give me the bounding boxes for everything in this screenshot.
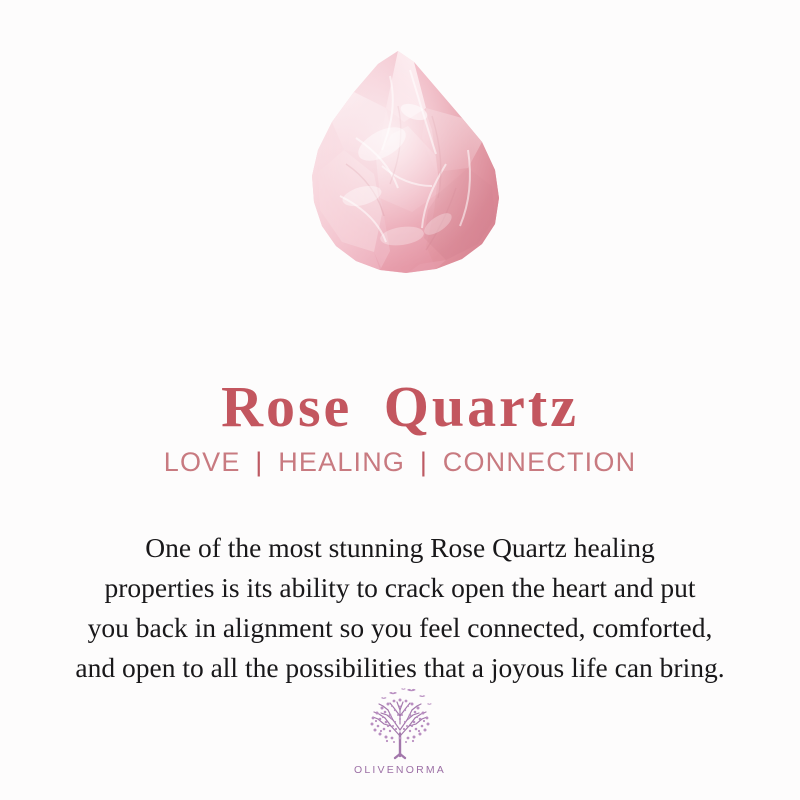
brand-wordmark: OLIVENORMA (354, 764, 446, 776)
description-line-1: One of the most stunning Rose Quartz hea… (20, 528, 780, 568)
subtitle-keywords: LOVE | HEALING | CONNECTION (0, 445, 800, 479)
subtitle-segment-connection: CONNECTION (443, 447, 637, 477)
subtitle-segment-healing: HEALING (278, 447, 405, 477)
tree-of-life-icon (357, 686, 443, 760)
description-line-2: properties is its ability to crack open … (20, 568, 780, 608)
description-paragraph: One of the most stunning Rose Quartz hea… (20, 528, 780, 688)
subtitle-segment-love: LOVE (164, 447, 241, 477)
product-poster: Rose Quartz LOVE | HEALING | CONNECTION … (0, 0, 800, 800)
description-line-4: and open to all the possibilities that a… (20, 648, 780, 688)
brand-logo: OLIVENORMA (0, 686, 800, 776)
rose-quartz-crystal-svg (286, 46, 518, 278)
rose-quartz-crystal-image (286, 46, 518, 278)
description-line-3: you back in alignment so you feel connec… (20, 608, 780, 648)
page-title: Rose Quartz (0, 375, 800, 439)
subtitle-separator-2: | (414, 447, 434, 477)
subtitle-separator-1: | (249, 447, 269, 477)
crystal-glow (312, 51, 499, 273)
